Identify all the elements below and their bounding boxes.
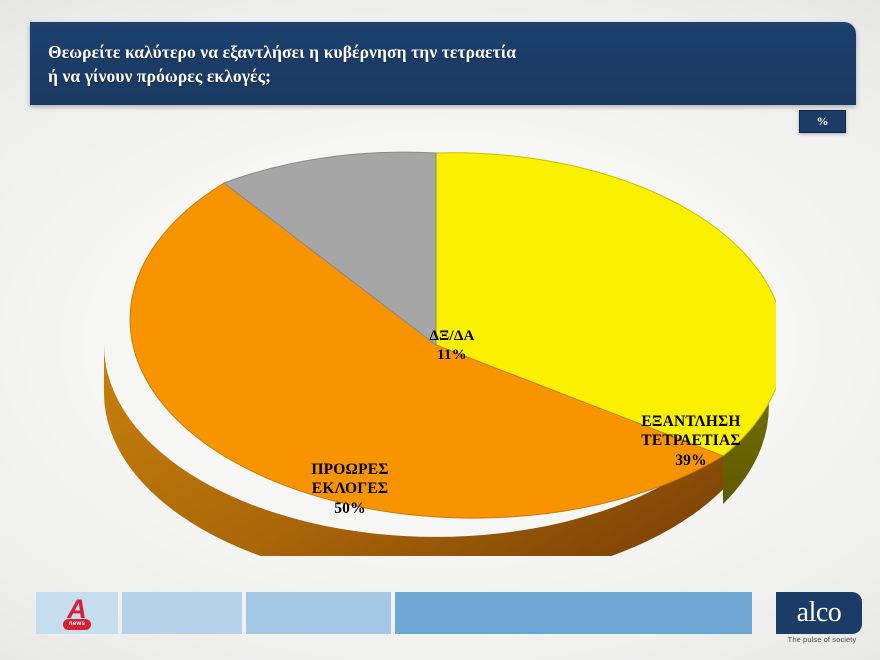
pie-label-exantlisi-tetraetias: ΕΞΑΝΤΛΗΣΗ ΤΕΤΡΑΕΤΙΑΣ 39% bbox=[601, 412, 781, 470]
alco-logo-text: alco bbox=[797, 598, 842, 628]
footer-block-3 bbox=[246, 592, 391, 634]
alco-logo: alco bbox=[776, 592, 862, 634]
slide-root: Θεωρείτε καλύτερο να εξαντλήσει η κυβέρν… bbox=[0, 0, 880, 660]
pie-label-dx-da: ΔΞ/ΔΑ 11% bbox=[388, 327, 516, 365]
pie-label-proores-ekloges: ΠΡΟΩΡΕΣ ΕΚΛΟΓΕΣ 50% bbox=[264, 460, 436, 518]
percent-unit-badge: % bbox=[799, 110, 846, 133]
footer-bar: A news bbox=[0, 592, 880, 634]
alpha-news-logo: A news bbox=[60, 596, 94, 630]
title-bar: Θεωρείτε καλύτερο να εξαντλήσει η κυβέρν… bbox=[30, 22, 856, 105]
footer-block-4 bbox=[395, 592, 752, 634]
footer-block-logo: A news bbox=[36, 592, 118, 634]
alpha-news-badge: news bbox=[63, 619, 91, 630]
pie-chart: ΕΞΑΝΤΛΗΣΗ ΤΕΤΡΑΕΤΙΑΣ 39% ΠΡΟΩΡΕΣ ΕΚΛΟΓΕΣ… bbox=[96, 146, 776, 556]
page-title: Θεωρείτε καλύτερο να εξαντλήσει η κυβέρν… bbox=[48, 40, 856, 88]
footer-block-2 bbox=[122, 592, 242, 634]
alco-tagline: The pulse of society bbox=[770, 635, 874, 644]
